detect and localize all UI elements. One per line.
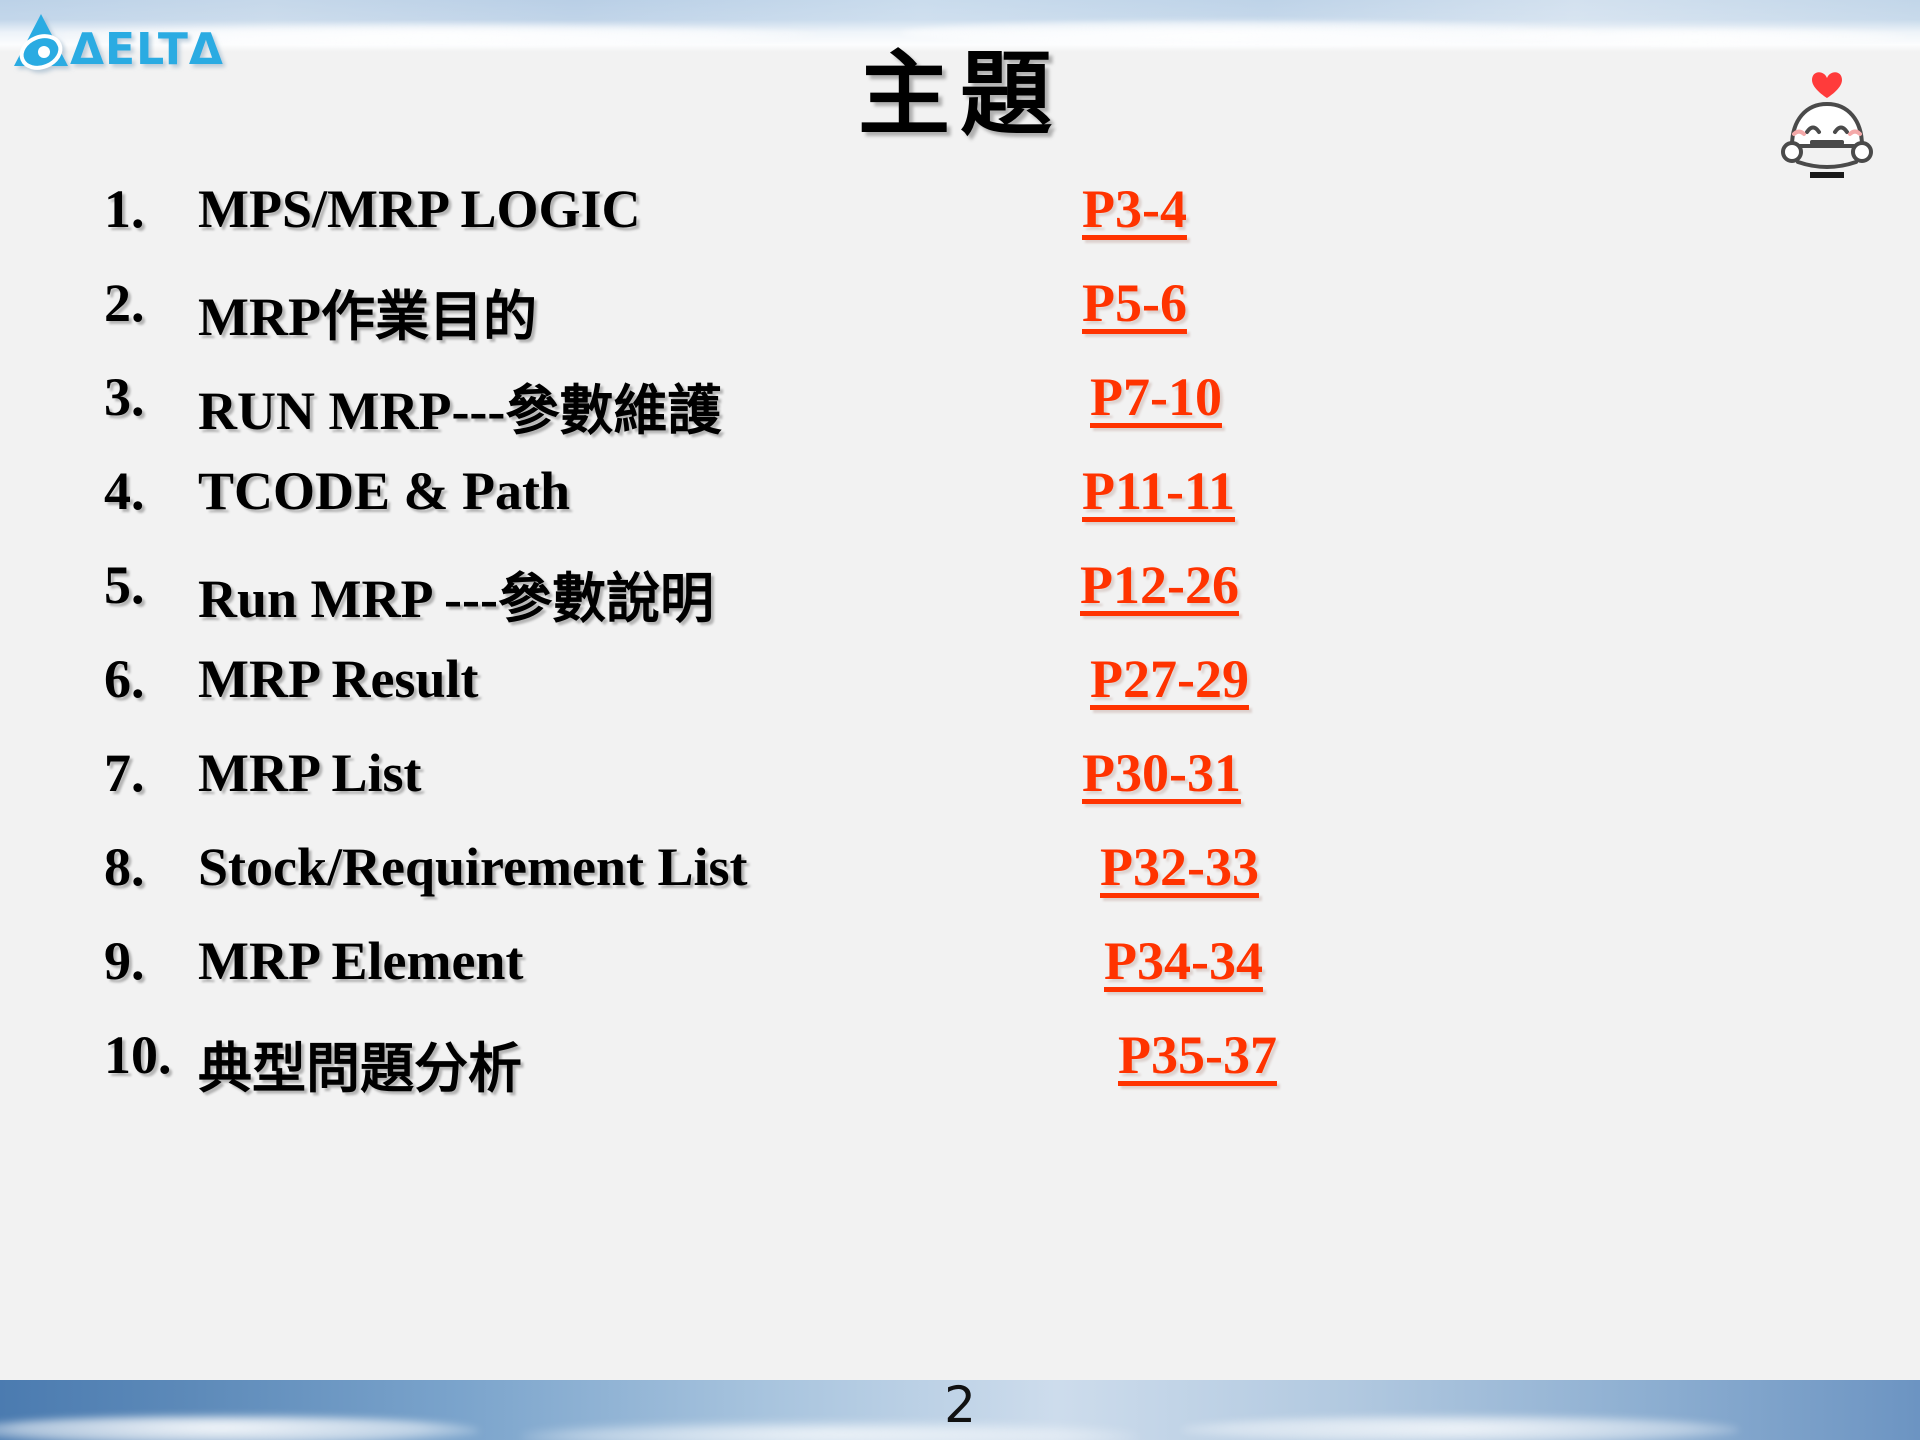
topic-number: 2. [104,272,190,334]
topic-row: 3.RUN MRP---參數維護P7-10 [0,366,1920,460]
topic-row: 8.Stock/Requirement ListP32-33 [0,836,1920,930]
topic-row: 10.典型問題分析P35-37 [0,1024,1920,1118]
topic-page-link[interactable]: P35-37 [1118,1024,1277,1086]
topic-row: 6.MRP ResultP27-29 [0,648,1920,742]
topic-row: 7.MRP ListP30-31 [0,742,1920,836]
topic-row: 5.Run MRP ---參數說明P12-26 [0,554,1920,648]
topic-row: 2.MRP作業目的P5-6 [0,272,1920,366]
topic-number: 10. [104,1024,190,1086]
topic-label: Run MRP ---參數說明 [198,554,714,633]
topic-label: RUN MRP---參數維護 [198,366,721,445]
page-title: 主題 [0,48,1920,140]
topic-number: 6. [104,648,190,710]
topic-page-link[interactable]: P27-29 [1090,648,1249,710]
topic-row: 4.TCODE & PathP11-11 [0,460,1920,554]
topic-label: MPS/MRP LOGIC [198,178,641,240]
topic-page-link[interactable]: P12-26 [1080,554,1239,616]
topic-number: 3. [104,366,190,428]
topic-label: Stock/Requirement List [198,836,748,898]
topic-page-link[interactable]: P3-4 [1082,178,1187,240]
topic-label: MRP作業目的 [198,272,537,351]
topic-label: MRP Result [198,648,478,710]
topic-page-link[interactable]: P11-11 [1082,460,1235,522]
slide-canvas: ΔELTΔ 主題 1.MPS/MRP LOGICP3- [0,0,1920,1440]
topic-label: MRP Element [198,930,523,992]
cloud-decoration [1480,28,1910,46]
topic-label: 典型問題分析 [198,1024,522,1103]
topic-label: TCODE & Path [198,460,570,522]
topic-page-link[interactable]: P5-6 [1082,272,1187,334]
topic-list: 1.MPS/MRP LOGICP3-42.MRP作業目的P5-63.RUN MR… [0,178,1920,1308]
topic-page-link[interactable]: P7-10 [1090,366,1222,428]
topic-page-link[interactable]: P32-33 [1100,836,1259,898]
topic-row: 1.MPS/MRP LOGICP3-4 [0,178,1920,272]
topic-number: 7. [104,742,190,804]
slide-number: 2 [0,1376,1920,1434]
topic-number: 1. [104,178,190,240]
topic-number: 5. [104,554,190,616]
topic-page-link[interactable]: P30-31 [1082,742,1241,804]
topic-number: 4. [104,460,190,522]
smiling-face-with-heart-emoticon [1772,62,1882,178]
topic-page-link[interactable]: P34-34 [1104,930,1263,992]
topic-number: 8. [104,836,190,898]
topic-number: 9. [104,930,190,992]
topic-row: 9.MRP ElementP34-34 [0,930,1920,1024]
topic-label: MRP List [198,742,422,804]
